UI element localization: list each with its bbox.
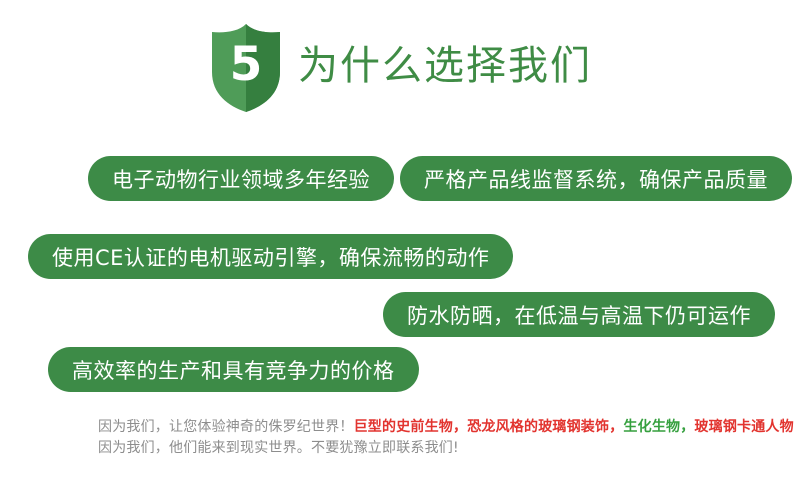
- footer-line-1: 因为我们，让您体验神奇的侏罗纪世界！巨型的史前生物，恐龙风格的玻璃钢装饰，生化生…: [98, 417, 758, 438]
- badge-number: 5: [208, 22, 284, 114]
- footer-segment-1: 因为我们，让您体验神奇的侏罗纪世界！: [98, 419, 354, 435]
- footer-segment-3: 生化生物，: [623, 419, 694, 435]
- footer-line-2: 因为我们，他们能来到现实世界。不要犹豫立即联系我们!: [98, 438, 758, 459]
- footer-text: 因为我们，让您体验神奇的侏罗纪世界！巨型的史前生物，恐龙风格的玻璃钢装饰，生化生…: [98, 417, 758, 459]
- feature-pill-3: 使用CE认证的电机驱动引擎，确保流畅的动作: [28, 234, 513, 279]
- feature-pill-1: 电子动物行业领域多年经验: [88, 156, 394, 201]
- footer-segment-2: 巨型的史前生物，恐龙风格的玻璃钢装饰，: [354, 419, 624, 435]
- feature-pill-5: 高效率的生产和具有竞争力的价格: [48, 347, 419, 392]
- page-title: 为什么选择我们: [298, 46, 592, 90]
- feature-pill-2: 严格产品线监督系统，确保产品质量: [400, 156, 792, 201]
- footer-segment-1: 因为我们，他们能来到现实世界。不要犹豫立即联系我们!: [98, 440, 459, 456]
- footer-segment-4: 玻璃钢卡通人物: [694, 419, 793, 435]
- promo-page: 5 为什么选择我们 电子动物行业领域多年经验 严格产品线监督系统，确保产品质量 …: [0, 0, 800, 485]
- page-header: 5 为什么选择我们: [0, 22, 800, 114]
- feature-pill-4: 防水防晒，在低温与高温下仍可运作: [383, 292, 775, 337]
- shield-icon: 5: [208, 22, 284, 114]
